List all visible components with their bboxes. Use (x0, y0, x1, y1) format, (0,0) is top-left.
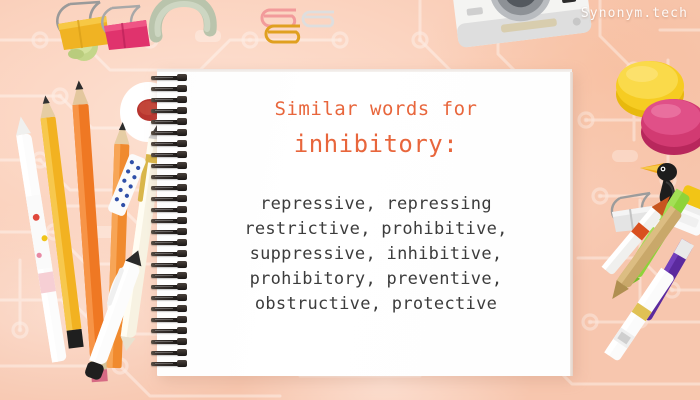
heading-query-word: inhibitory: (182, 129, 570, 160)
synonym-list: repressive, repressing restrictive, proh… (182, 192, 570, 317)
site-watermark: Synonym.tech (581, 6, 688, 21)
heading-line-1: Similar words for (182, 97, 570, 122)
screenshot-canvas: Similar words for inhibitory: repressive… (0, 0, 700, 400)
synonym-line: restrictive, prohibitive, (182, 217, 570, 242)
binder-clip-pink (96, 2, 158, 52)
page-content: Similar words for inhibitory: repressive… (182, 72, 570, 376)
synonym-line: obstructive, protective (182, 292, 570, 317)
macaron-pink (634, 88, 700, 158)
page-edge-right (570, 72, 573, 376)
polka-dot-pen (96, 150, 156, 230)
washi-tape (148, 0, 218, 40)
marker-cluster (588, 212, 700, 387)
synonym-line: prohibitory, preventive, (182, 267, 570, 292)
white-pen (68, 256, 158, 386)
synonym-line: suppressive, inhibitive, (182, 242, 570, 267)
paperclip-white (300, 8, 342, 28)
synonym-line: repressive, repressing (182, 192, 570, 217)
